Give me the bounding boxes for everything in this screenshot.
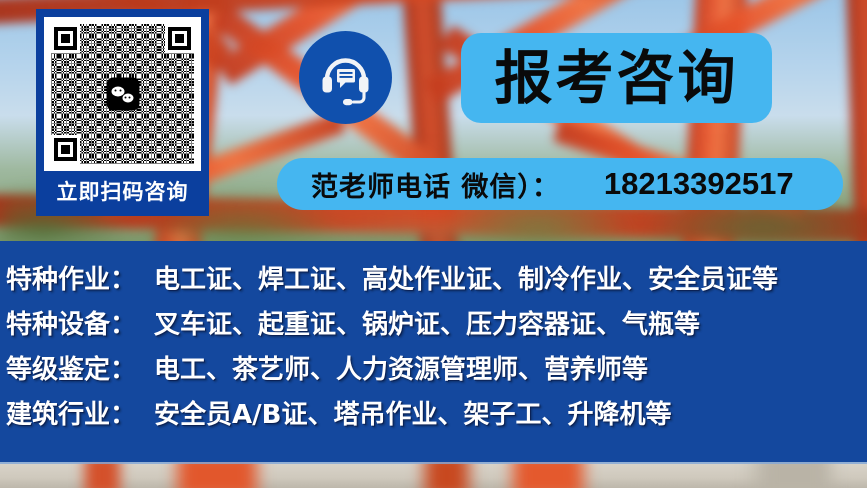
category-label: 等级鉴定： xyxy=(6,349,136,386)
page-title: 报考咨询 xyxy=(494,49,738,107)
qr-code-image[interactable] xyxy=(44,17,201,171)
category-items: 电工、茶艺师、人力资源管理师、营养师等 xyxy=(154,349,648,386)
category-label: 建筑行业： xyxy=(6,394,136,431)
list-item: 特种作业： 电工证、焊工证、高处作业证、制冷作业、安全员证等 xyxy=(0,255,867,300)
list-item: 等级鉴定： 电工、茶艺师、人力资源管理师、营养师等 xyxy=(0,345,867,390)
qr-caption: 立即扫码咨询 xyxy=(44,171,201,213)
category-label: 特种设备： xyxy=(6,304,136,341)
qr-matrix xyxy=(51,24,194,164)
category-items: 叉车证、起重证、锅炉证、压力容器证、气瓶等 xyxy=(154,304,700,341)
wechat-icon xyxy=(106,78,139,111)
headset-support-icon xyxy=(299,31,392,124)
certificate-list-panel: 特种作业： 电工证、焊工证、高处作业证、制冷作业、安全员证等 特种设备： 叉车证… xyxy=(0,241,867,462)
qr-finder-top-right xyxy=(166,25,193,52)
category-label: 特种作业： xyxy=(6,259,136,296)
list-item: 建筑行业： 安全员A/B证、塔吊作业、架子工、升降机等 xyxy=(0,390,867,435)
qr-code-card[interactable]: 立即扫码咨询 xyxy=(36,9,209,216)
category-items: 安全员A/B证、塔吊作业、架子工、升降机等 xyxy=(154,394,671,431)
promo-poster: 立即扫码咨询 报考咨询 范老师电话 微信）： 18213392517 特种作业： xyxy=(0,0,867,488)
qr-finder-top-left xyxy=(52,25,79,52)
phone-number[interactable]: 18213392517 xyxy=(604,166,794,202)
title-pill: 报考咨询 xyxy=(461,33,772,123)
contact-pill[interactable]: 范老师电话 微信）： 18213392517 xyxy=(277,158,843,210)
qr-finder-bottom-left xyxy=(52,136,79,163)
bottom-photo-sliver xyxy=(0,462,867,488)
list-item: 特种设备： 叉车证、起重证、锅炉证、压力容器证、气瓶等 xyxy=(0,300,867,345)
bottom-photo-blur xyxy=(0,462,867,488)
contact-label: 范老师电话 微信）： xyxy=(311,165,560,204)
category-items: 电工证、焊工证、高处作业证、制冷作业、安全员证等 xyxy=(154,259,778,296)
panel-divider xyxy=(0,462,867,464)
